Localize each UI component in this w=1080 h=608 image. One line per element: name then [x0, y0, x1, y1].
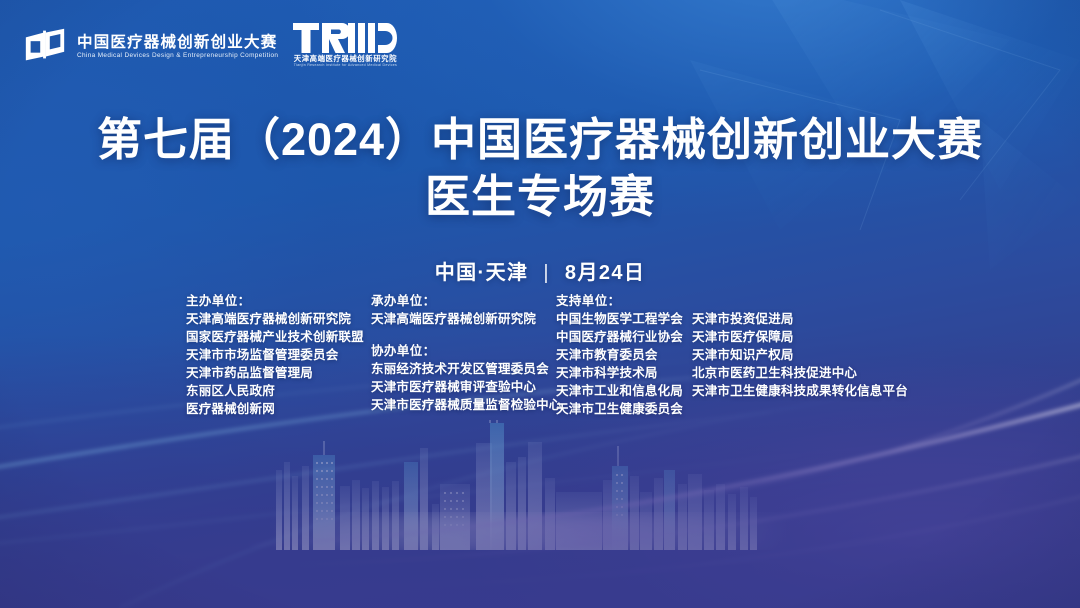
coorganizer-heading: 协办单位：	[371, 342, 556, 360]
coorganizer-item: 天津市医疗器械审评查验中心	[371, 378, 556, 396]
event-title-line1: 第七届（2024）中国医疗器械创新创业大赛	[0, 112, 1080, 169]
host-item: 国家医疗器械产业技术创新联盟	[186, 328, 371, 346]
supporter-item: 天津市教育委员会	[556, 346, 692, 364]
undertaker-item: 天津高端医疗器械创新研究院	[371, 310, 556, 328]
organizers-host-column: 主办单位： 天津高端医疗器械创新研究院 国家医疗器械产业技术创新联盟 天津市市场…	[186, 292, 371, 418]
host-heading: 主办单位：	[186, 292, 371, 310]
event-poster: 中国医疗器械创新创业大赛 China Medical Devices Desig…	[0, 0, 1080, 608]
host-item: 东丽区人民政府	[186, 382, 371, 400]
event-title: 第七届（2024）中国医疗器械创新创业大赛 医生专场赛	[0, 112, 1080, 225]
undertaker-heading: 承办单位：	[371, 292, 556, 310]
host-item: 天津市药品监督管理局	[186, 364, 371, 382]
supporter-item: 天津市卫生健康委员会	[556, 400, 692, 418]
supporter-item: 天津市科学技术局	[556, 364, 692, 382]
coorganizer-item: 天津市医疗器械质量监督检验中心	[371, 396, 556, 414]
column-gap	[371, 328, 556, 342]
logo-trimd: 天津高端医疗器械创新研究院 Tianjin Research Institute…	[293, 22, 397, 68]
logo-cmdc-name-en: China Medical Devices Design & Entrepren…	[77, 53, 281, 59]
logo-trimd-name-en: Tianjin Research Institute for Advanced …	[294, 64, 397, 68]
supporter-heading: 支持单位：	[556, 292, 692, 310]
open-book-mark-icon	[22, 22, 68, 68]
organizers-supporter-column-a: 支持单位： 中国生物医学工程学会 中国医疗器械行业协会 天津市教育委员会 天津市…	[556, 292, 692, 418]
host-item: 天津市市场监督管理委员会	[186, 346, 371, 364]
logo-trimd-name-cn: 天津高端医疗器械创新研究院	[294, 55, 397, 62]
organizers-undertaker-column: 承办单位： 天津高端医疗器械创新研究院 协办单位： 东丽经济技术开发区管理委员会…	[371, 292, 556, 414]
supporter-item: 中国生物医学工程学会	[556, 310, 692, 328]
supporter-item: 天津市投资促进局	[692, 310, 912, 328]
supporter-item: 天津市医疗保障局	[692, 328, 912, 346]
event-location-date: 中国·天津 | 8月24日	[0, 256, 1080, 285]
separator: |	[543, 262, 550, 285]
logo-cmdc-name-cn: 中国医疗器械创新创业大赛	[77, 35, 277, 51]
logo-bar: 中国医疗器械创新创业大赛 China Medical Devices Desig…	[22, 22, 397, 68]
coorganizer-item: 东丽经济技术开发区管理委员会	[371, 360, 556, 378]
supporter-item: 北京市医药卫生科技促进中心	[692, 364, 912, 382]
organizers-supporter-column-b: 天津市投资促进局 天津市医疗保障局 天津市知识产权局 北京市医药卫生科技促进中心…	[692, 292, 912, 400]
logo-cmdc: 中国医疗器械创新创业大赛 China Medical Devices Desig…	[22, 22, 277, 68]
supporter-item: 天津市知识产权局	[692, 346, 912, 364]
trimd-wordmark-icon	[293, 23, 397, 53]
event-date: 8月24日	[565, 262, 645, 284]
organizer-columns: 主办单位： 天津高端医疗器械创新研究院 国家医疗器械产业技术创新联盟 天津市市场…	[186, 292, 912, 418]
event-title-line2: 医生专场赛	[0, 169, 1080, 226]
supporter-item: 中国医疗器械行业协会	[556, 328, 692, 346]
event-location: 中国·天津	[435, 262, 529, 284]
host-item: 医疗器械创新网	[186, 400, 371, 418]
supporter-item: 天津市工业和信息化局	[556, 382, 692, 400]
host-item: 天津高端医疗器械创新研究院	[186, 310, 371, 328]
column-spacer	[692, 292, 912, 310]
supporter-item: 天津市卫生健康科技成果转化信息平台	[692, 382, 912, 400]
